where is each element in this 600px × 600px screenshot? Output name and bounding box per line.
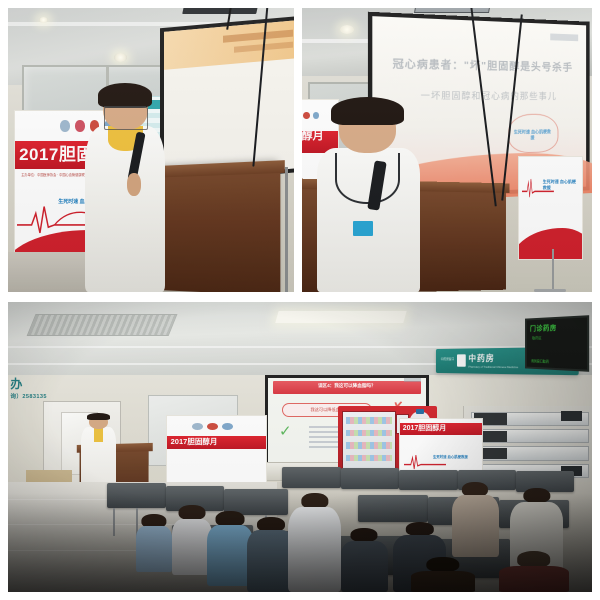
sponsor-logo-icon <box>303 112 310 119</box>
pharmacy-sign-icon <box>457 355 466 367</box>
audience-person <box>341 528 388 592</box>
ceiling-downlight-icon <box>340 25 354 34</box>
audience-person <box>452 482 499 557</box>
lab-coat <box>85 126 165 292</box>
torso <box>411 571 475 592</box>
sponsor-logo-icon <box>222 423 233 430</box>
slide-tagline: 生死时速 血心肌梗救援 <box>512 129 553 141</box>
ceiling-panel-light <box>275 311 407 323</box>
audience-person <box>207 511 254 586</box>
torso <box>136 526 171 571</box>
speaker-figure <box>85 88 165 292</box>
confidence-monitor <box>414 8 496 13</box>
product-row <box>346 430 392 436</box>
collar <box>94 428 102 442</box>
wall-sign-primary: 办 <box>10 375 23 392</box>
screen-stand-pole <box>285 167 288 292</box>
banner-slogan: 生死时速 血心肌梗救援 <box>543 179 580 190</box>
led-line-2: 取药区 <box>532 335 580 341</box>
audience-person-foreground <box>499 551 569 592</box>
chair <box>341 468 399 489</box>
monitor <box>561 411 582 421</box>
chair <box>399 470 457 491</box>
audience-person <box>136 514 171 572</box>
eyeglasses-icon <box>104 106 146 115</box>
sponsor-logo-icon <box>60 120 70 131</box>
slide-header-text: 误区4：我这可以降血脂吗？ <box>281 382 413 389</box>
check-mark-icon: ✓ <box>279 424 304 447</box>
air-vent <box>27 314 178 336</box>
rollup-banner-right: 生死时速 血心肌梗救援 <box>518 156 584 260</box>
pharmacy-sign-code: 中药房窗口 <box>441 357 455 362</box>
ceiling-downlight-icon <box>39 17 48 23</box>
product-row <box>346 442 392 448</box>
banner-stand-foot <box>534 289 566 292</box>
chair-leg <box>113 508 115 536</box>
sponsor-logo-icon <box>313 112 320 119</box>
collage-panel-bottom: 办 询）2583135 咨询）2583135 误区4：我这可以降血脂吗？ 我这可… <box>8 302 592 592</box>
product-row <box>346 417 392 423</box>
banner-stand-leg <box>552 249 554 289</box>
sponsor-logo-icon <box>75 120 85 131</box>
slide-corner-logo <box>551 33 578 41</box>
wall-sign-phone: 询）2583135 <box>10 392 47 400</box>
photo-collage: 2017胆固醇月 主办单位：中国医师协会 · 中国心血管健康联盟 生死时速 血心… <box>0 0 600 600</box>
slide-subheadline: 一坏胆固醇和冠心病的那些事儿 <box>396 88 578 102</box>
chair <box>358 495 428 523</box>
stethoscope-icon <box>335 153 400 204</box>
hair <box>98 83 152 108</box>
laptop <box>183 8 263 14</box>
torso <box>452 495 499 557</box>
hand <box>127 173 141 195</box>
banner-title: 2017胆固醇月 <box>403 423 481 433</box>
torso <box>247 530 294 592</box>
torso <box>341 541 388 592</box>
torso <box>499 566 569 592</box>
banner-title: 2017胆固醇月 <box>171 436 266 447</box>
projection-screen <box>160 16 294 184</box>
head <box>523 488 550 504</box>
hair <box>331 97 404 125</box>
audience-person-standing <box>288 493 341 592</box>
torso <box>288 507 341 592</box>
slide-headline: 冠心病患者："坏"胆固醇是头号杀手 <box>387 56 579 75</box>
banner-wave-shape <box>518 228 584 260</box>
chair <box>107 483 165 508</box>
torso <box>207 525 254 586</box>
led-line-1: 门诊药房 <box>530 321 583 333</box>
sponsor-logo-icon <box>207 423 218 430</box>
collage-panel-top-left: 2017胆固醇月 主办单位：中国医师协会 · 中国心血管健康联盟 生死时速 血心… <box>8 8 294 292</box>
collage-panel-top-right: 醇月 冠心病患者："坏"胆固醇是头号杀手 一坏胆固醇和冠心病的那些事儿 生死时速… <box>302 8 592 292</box>
slide-corner-logo <box>404 378 421 381</box>
sponsor-logo-row <box>192 423 246 430</box>
sponsor-logo-icon <box>192 423 203 430</box>
audience-person-foreground <box>411 557 475 592</box>
id-badge <box>353 221 373 236</box>
speaker-figure <box>319 105 418 292</box>
bottle-cap <box>416 409 424 414</box>
audience-person <box>247 517 294 592</box>
chair <box>282 467 340 488</box>
led-display-board: 门诊药房 取药区 请到窗口取药 <box>525 315 589 372</box>
led-line-3: 请到窗口取药 <box>531 358 582 365</box>
hair <box>87 413 109 420</box>
